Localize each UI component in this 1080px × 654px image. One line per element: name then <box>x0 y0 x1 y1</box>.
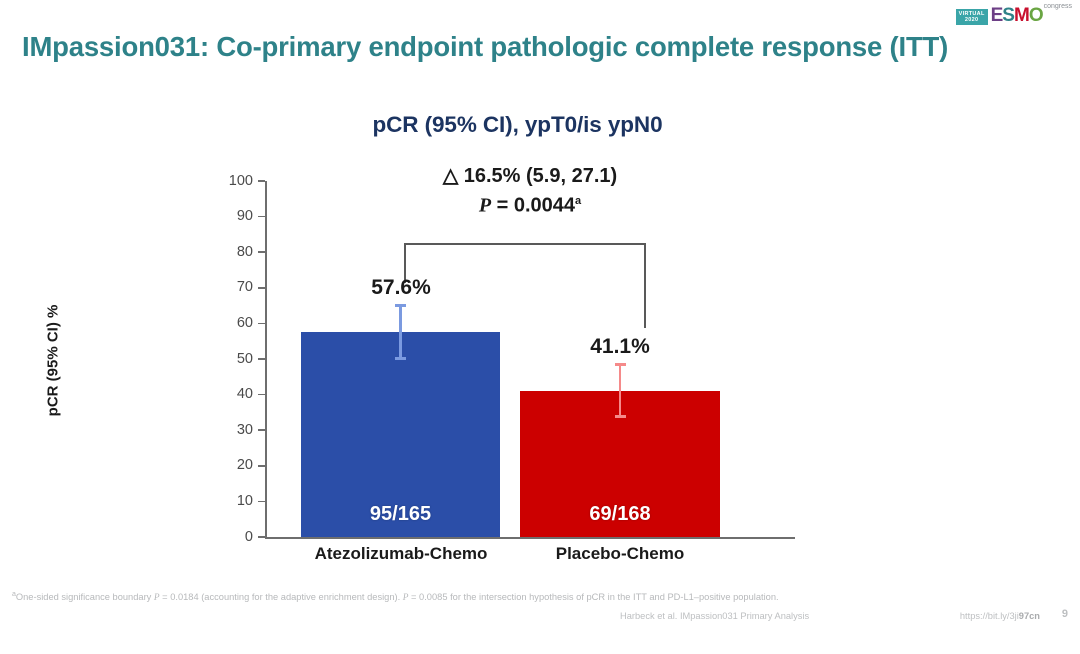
value-label-atezolizumab-chemo: 57.6% <box>321 276 481 300</box>
virtual-2020-badge: VIRTUAL 2020 <box>956 9 988 25</box>
x-axis-label-atezolizumab-chemo: Atezolizumab-Chemo <box>281 544 521 564</box>
comparison-bracket-top <box>404 243 646 245</box>
y-axis-tick-label: 10 <box>209 494 253 509</box>
value-label-placebo-chemo: 41.1% <box>540 335 700 359</box>
y-axis-tick-label-wrap: 70 <box>203 280 253 295</box>
y-axis-tick-label-wrap: 40 <box>203 387 253 402</box>
y-axis-tick <box>258 323 265 325</box>
y-axis-tick-label: 90 <box>209 209 253 224</box>
y-axis-tick-label: 80 <box>209 245 253 260</box>
pcr-bar-chart: △ 16.5% (5.9, 27.1) P = 0.0044a pCR (95%… <box>0 150 1080 580</box>
y-axis-tick <box>258 429 265 431</box>
y-axis-tick <box>258 358 265 360</box>
y-axis-tick-label: 30 <box>209 423 253 438</box>
y-axis-tick-label: 40 <box>209 387 253 402</box>
citation-url[interactable]: https://bit.ly/3ji97cn <box>960 611 1040 621</box>
bar-atezolizumab-chemo: 95/165 <box>301 332 500 537</box>
y-axis-tick-label: 70 <box>209 280 253 295</box>
x-axis-label-placebo-chemo: Placebo-Chemo <box>520 544 720 564</box>
error-cap-bottom <box>615 415 626 417</box>
comparison-bracket-right-leg <box>644 243 646 328</box>
virtual-badge-line1: VIRTUAL <box>959 11 985 17</box>
footnote-part2: = 0.0184 (accounting for the adaptive en… <box>160 592 403 602</box>
chart-title: pCR (95% CI), ypT0/is ypN0 <box>0 112 1035 138</box>
virtual-badge-line2: 2020 <box>959 17 985 23</box>
esmo-wordmark: ESMO <box>991 6 1043 25</box>
p-value-line: P = 0.0044a <box>265 189 795 219</box>
error-cap-top <box>395 304 406 306</box>
y-axis-tick-label-wrap: 100 <box>203 174 253 189</box>
delta-annotation: △ 16.5% (5.9, 27.1) P = 0.0044a <box>265 164 795 219</box>
y-axis-tick <box>258 536 265 538</box>
y-axis-line <box>265 181 267 538</box>
citation-url-bold: 97cn <box>1019 611 1040 621</box>
y-axis-tick-label-wrap: 20 <box>203 458 253 473</box>
y-axis-tick <box>258 251 265 253</box>
y-axis-tick-label: 60 <box>209 316 253 331</box>
bar-label-atezolizumab-chemo: 95/165 <box>301 503 500 526</box>
esmo-letter-s: S <box>1002 5 1014 26</box>
congress-label: congress <box>1044 3 1072 10</box>
y-axis-tick <box>258 287 265 289</box>
p-italic: P <box>479 195 491 217</box>
y-axis-tick-label-wrap: 60 <box>203 316 253 331</box>
error-cap-bottom <box>395 357 406 359</box>
p-value-footnote-marker: a <box>575 195 581 207</box>
citation-url-prefix: https://bit.ly/3ji <box>960 611 1019 621</box>
footnote-part1: One-sided significance boundary <box>16 592 154 602</box>
error-cap-top <box>615 363 626 365</box>
esmo-letter-o: O <box>1029 5 1043 26</box>
y-axis-tick-label: 50 <box>209 352 253 367</box>
error-bar-placebo-chemo <box>619 363 621 417</box>
footnote-part3: = 0.0085 for the intersection hypothesis… <box>408 592 778 602</box>
y-axis-tick-label-wrap: 80 <box>203 245 253 260</box>
delta-line: △ 16.5% (5.9, 27.1) <box>265 164 795 189</box>
y-axis-tick <box>258 465 265 467</box>
y-axis-tick <box>258 501 265 503</box>
y-axis-tick-label-wrap: 90 <box>203 209 253 224</box>
y-axis-tick-label-wrap: 50 <box>203 352 253 367</box>
esmo-letter-m: M <box>1014 5 1029 26</box>
esmo-letter-e: E <box>991 5 1003 26</box>
y-axis-tick <box>258 394 265 396</box>
y-axis-tick <box>258 216 265 218</box>
p-value-text: = 0.0044 <box>491 195 575 217</box>
y-axis-title: pCR (95% CI) % <box>45 236 62 486</box>
y-axis-tick-label: 100 <box>209 174 253 189</box>
x-axis-line <box>265 537 795 539</box>
citation-line: Harbeck et al. IMpassion031 Primary Anal… <box>620 611 1040 621</box>
footnote: aOne-sided significance boundary P = 0.0… <box>12 589 1012 605</box>
y-axis-tick-label: 0 <box>209 530 253 545</box>
page-number: 9 <box>1062 608 1068 620</box>
esmo-congress-logo: VIRTUAL 2020 ESMO congress <box>956 3 1072 25</box>
error-bar-atezolizumab-chemo <box>399 304 401 360</box>
y-axis-tick <box>258 180 265 182</box>
y-axis-tick-label-wrap: 0 <box>203 530 253 545</box>
bar-label-placebo-chemo: 69/168 <box>520 503 720 526</box>
y-axis-tick-label-wrap: 10 <box>203 494 253 509</box>
y-axis-tick-label: 20 <box>209 458 253 473</box>
citation-source: Harbeck et al. IMpassion031 Primary Anal… <box>620 611 809 621</box>
slide-title: IMpassion031: Co-primary endpoint pathol… <box>22 30 982 64</box>
y-axis-tick-label-wrap: 30 <box>203 423 253 438</box>
